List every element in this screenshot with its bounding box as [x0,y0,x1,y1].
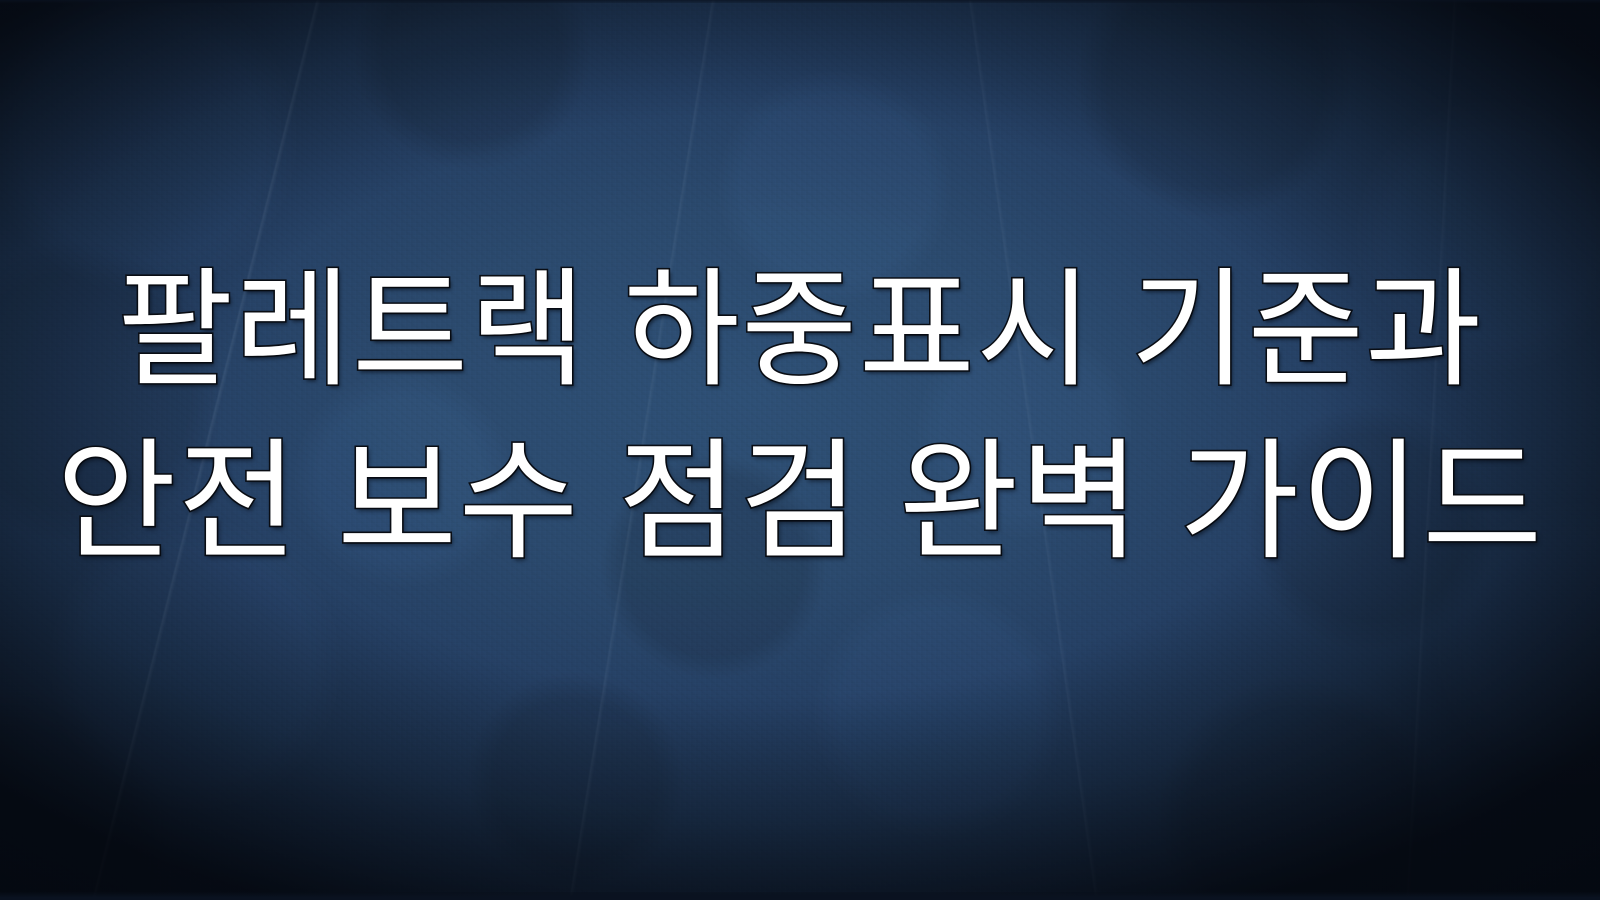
slide-bottom-edge-strip [0,892,1600,900]
slide-top-edge-strip [0,0,1600,3]
slide-title-line-2: 안전 보수 점검 완벽 가이드 [4,426,1596,578]
title-slide: 팔레트랙 하중표시 기준과 안전 보수 점검 완벽 가이드 [0,0,1600,900]
slide-title-line-1: 팔레트랙 하중표시 기준과 [12,256,1588,406]
slide-title: 팔레트랙 하중표시 기준과 안전 보수 점검 완벽 가이드 [0,256,1600,578]
